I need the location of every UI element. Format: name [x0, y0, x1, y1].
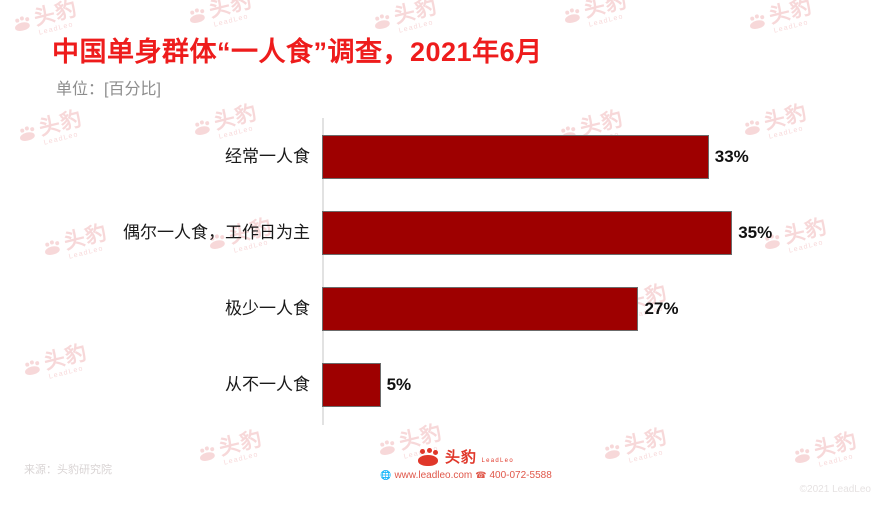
brand-contact: 🌐 www.leadleo.com ☎ 400-072-5588	[381, 470, 551, 481]
brand-logo: 头豹 LeadLeo	[381, 449, 551, 466]
category-label-text: 极少一人食	[225, 287, 322, 331]
category-label: 从不一人食	[0, 363, 322, 407]
bar-value-label: 27%	[638, 287, 678, 331]
brand-name-cn: 头豹	[445, 449, 477, 466]
category-label: 偶尔一人食，工作日为主	[0, 211, 322, 255]
bar	[322, 135, 709, 179]
category-label-text: 经常一人食	[225, 135, 322, 179]
copyright-note: ©2021 LeadLeo	[800, 484, 871, 495]
bar	[322, 363, 381, 407]
category-label: 极少一人食	[0, 287, 322, 331]
category-label: 经常一人食	[0, 135, 322, 179]
brand-website: www.leadleo.com	[394, 470, 472, 481]
source-note: 来源：头豹研究院	[24, 461, 112, 477]
brand-phone: 400-072-5588	[489, 470, 551, 481]
brand-names: 头豹 LeadLeo	[445, 450, 514, 466]
category-label-text: 偶尔一人食，工作日为主	[123, 211, 322, 255]
bar-value-label: 5%	[381, 363, 412, 407]
brand-name-en: LeadLeo	[482, 458, 514, 464]
bar-row: 极少一人食27%	[0, 287, 879, 331]
leopard-paw-icon	[418, 449, 440, 466]
globe-icon: 🌐	[380, 470, 391, 481]
category-label-text: 从不一人食	[225, 363, 322, 407]
chart-unit-subtitle: 单位：[百分比]	[56, 75, 161, 99]
chart-page: 头豹LeadLeo 头豹LeadLeo 头豹LeadLeo 头豹LeadLeo …	[0, 0, 879, 516]
phone-icon: ☎	[475, 470, 486, 481]
page-title: 中国单身群体“一人食”调查，2021年6月	[52, 30, 543, 69]
bar	[322, 287, 638, 331]
bar-row: 经常一人食33%	[0, 135, 879, 179]
bar-value-label: 35%	[732, 211, 772, 255]
brand-block: 头豹 LeadLeo 🌐 www.leadleo.com ☎ 400-072-5…	[381, 449, 551, 481]
bar-row: 从不一人食5%	[0, 363, 879, 407]
bar-value-label: 33%	[709, 135, 749, 179]
bar-row: 偶尔一人食，工作日为主35%	[0, 211, 879, 255]
bar	[322, 211, 732, 255]
